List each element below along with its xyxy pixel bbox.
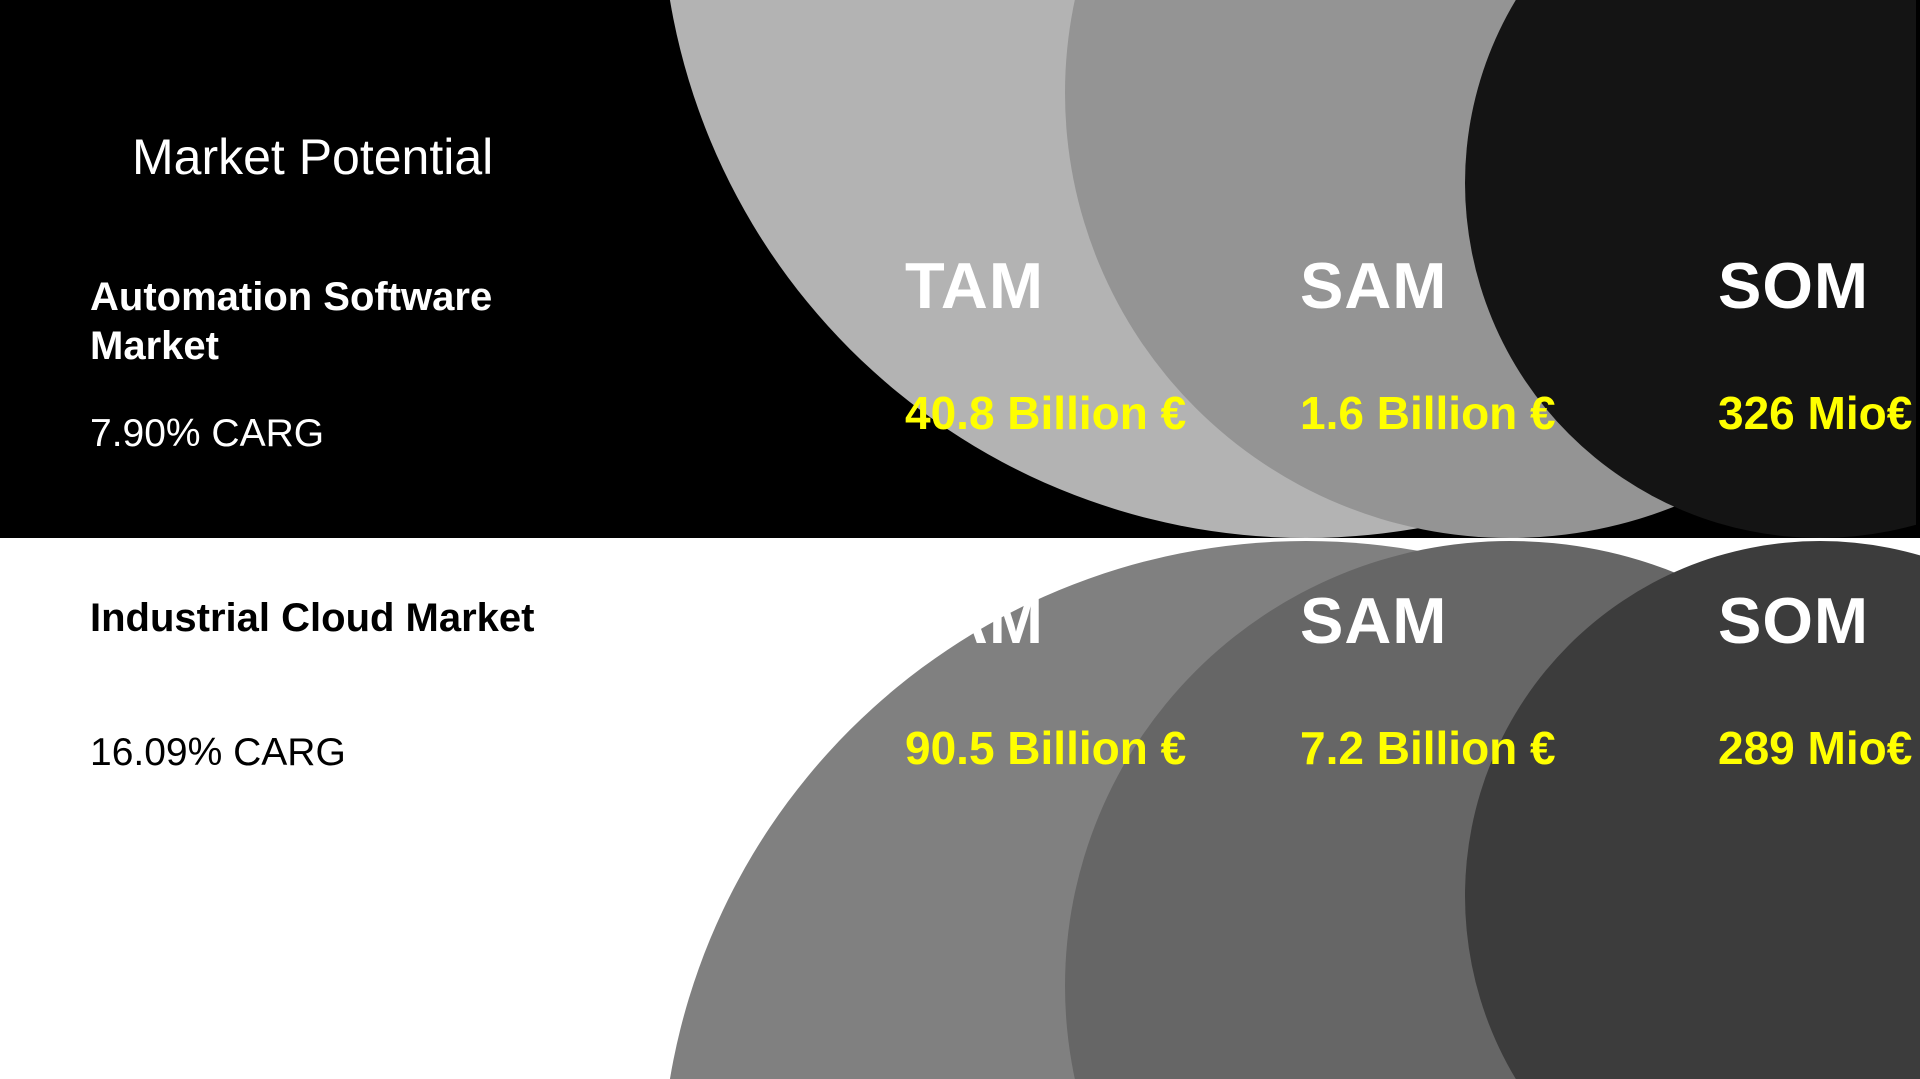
- bottom-market-name: Industrial Cloud Market: [90, 594, 560, 643]
- page-title: Market Potential: [132, 128, 493, 186]
- top-market-cagr: 7.90% CARG: [90, 412, 324, 456]
- section-divider: [0, 538, 1920, 541]
- bottom-market-cagr: 16.09% CARG: [90, 731, 346, 775]
- industrial-cloud-market-panel: Industrial Cloud Market 16.09% CARG TAM …: [0, 541, 1920, 1079]
- automation-software-market-panel: Market Potential Automation Software Mar…: [0, 0, 1920, 538]
- right-edge-border: [1916, 0, 1920, 538]
- top-text-panel: Market Potential Automation Software Mar…: [0, 0, 660, 538]
- top-market-name: Automation Software Market: [90, 273, 560, 371]
- market-potential-slide: Market Potential Automation Software Mar…: [0, 0, 1920, 1079]
- bottom-text-panel: Industrial Cloud Market 16.09% CARG: [0, 541, 660, 1079]
